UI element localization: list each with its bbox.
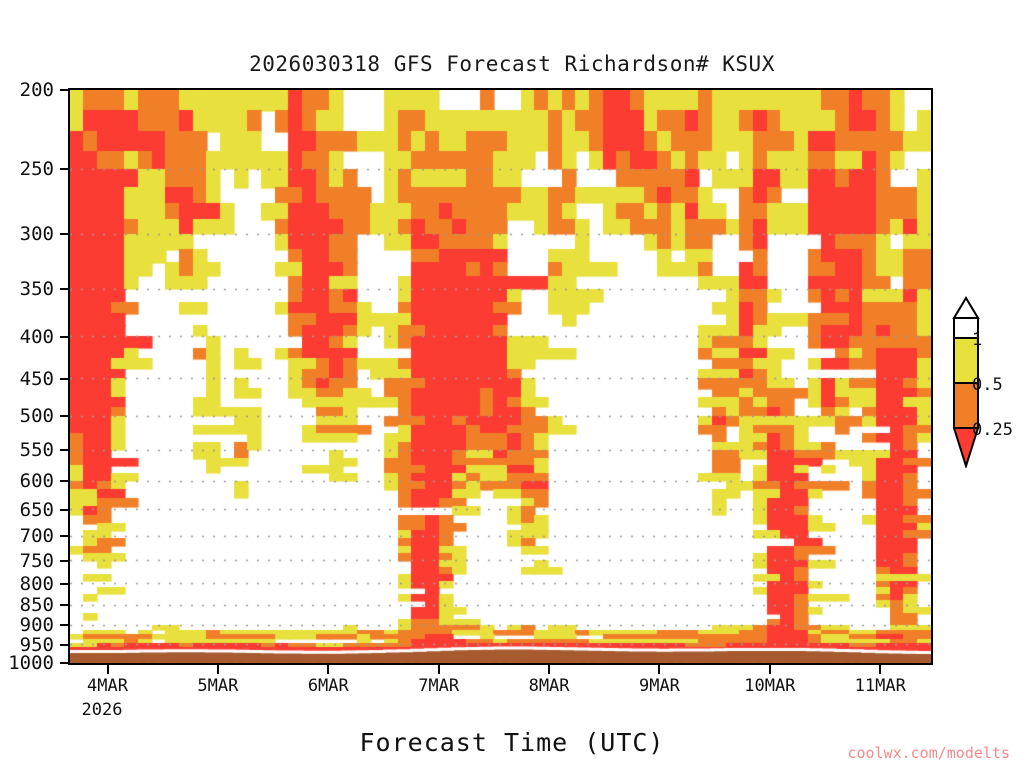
y-tick-label-400: 400 xyxy=(20,326,54,348)
x-tick-label-7mar: 7MAR xyxy=(418,676,459,696)
x-tick-mark-9mar xyxy=(658,665,660,674)
x-tick-mark-11mar xyxy=(879,665,881,674)
y-tick-label-650: 650 xyxy=(20,499,54,521)
x-tick-label-10mar: 10MAR xyxy=(744,676,795,696)
x-tick-mark-7mar xyxy=(438,665,440,674)
y-tick-label-550: 550 xyxy=(20,439,54,461)
forecast-chart-page: 2026030318 GFS Forecast Richardson# KSUX… xyxy=(0,0,1024,768)
x-tick-label-6mar: 6MAR xyxy=(308,676,349,696)
x-tick-mark-5mar xyxy=(217,665,219,674)
colorbar-tick-1: 1 xyxy=(972,330,982,350)
x-tick-mark-10mar xyxy=(769,665,771,674)
page-title: 2026030318 GFS Forecast Richardson# KSUX xyxy=(0,52,1024,76)
y-tick-label-250: 250 xyxy=(20,158,54,180)
heatmap-plot-area xyxy=(68,88,933,665)
x-tick-label-11mar: 11MAR xyxy=(855,676,906,696)
y-tick-label-1000: 1000 xyxy=(8,652,54,674)
x-tick-mark-6mar xyxy=(327,665,329,674)
y-tick-label-600: 600 xyxy=(20,470,54,492)
y-tick-label-350: 350 xyxy=(20,278,54,300)
x-axis-year-label: 2026 xyxy=(82,700,123,720)
y-tick-label-750: 750 xyxy=(20,550,54,572)
colorbar-over-arrow xyxy=(954,298,978,318)
y-tick-label-200: 200 xyxy=(20,79,54,101)
watermark-credit: coolwx.com/modelts xyxy=(847,744,1010,762)
x-tick-mark-8mar xyxy=(548,665,550,674)
y-tick-label-500: 500 xyxy=(20,405,54,427)
x-tick-label-8mar: 8MAR xyxy=(529,676,570,696)
y-tick-label-800: 800 xyxy=(20,573,54,595)
colorbar-tick-0.25: 0.25 xyxy=(972,420,1013,440)
y-tick-label-850: 850 xyxy=(20,594,54,616)
y-tick-label-300: 300 xyxy=(20,223,54,245)
x-tick-label-9mar: 9MAR xyxy=(639,676,680,696)
y-tick-label-450: 450 xyxy=(20,368,54,390)
x-tick-mark-4mar xyxy=(107,665,109,674)
y-axis: 2002503003504004505005506006507007508008… xyxy=(0,0,68,768)
x-tick-label-4mar: 4MAR xyxy=(87,676,128,696)
richardson-heatmap-canvas xyxy=(70,90,931,663)
y-tick-label-700: 700 xyxy=(20,525,54,547)
colorbar-tick-0.5: 0.5 xyxy=(972,375,1003,395)
x-tick-label-5mar: 5MAR xyxy=(197,676,238,696)
colorbar: 1 0.5 0.25 xyxy=(940,296,1024,468)
